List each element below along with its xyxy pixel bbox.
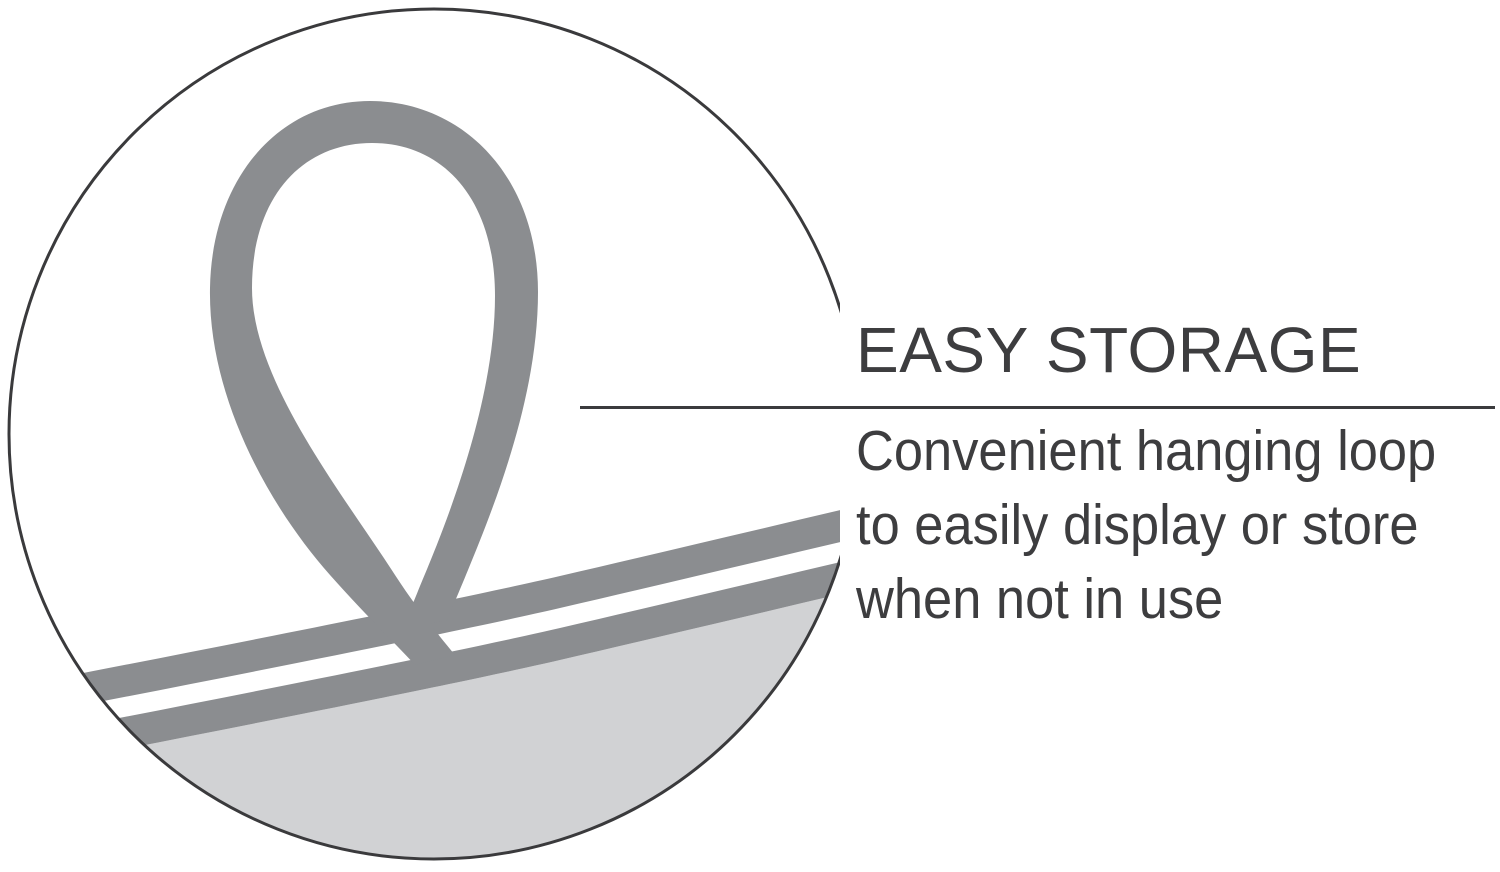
easy-storage-infographic: EASY STORAGE Convenient hanging loop to … [0, 0, 1500, 872]
callout-body: Convenient hanging loop to easily displa… [856, 382, 1445, 636]
callout-text-block: EASY STORAGE Convenient hanging loop to … [856, 318, 1496, 636]
callout-body-line-2: to easily display or store [856, 488, 1445, 562]
hanging-loop-illustration [0, 0, 840, 872]
callout-body-line-3: when not in use [856, 562, 1445, 636]
callout-heading: EASY STORAGE [856, 318, 1496, 382]
callout-body-line-1: Convenient hanging loop [856, 414, 1445, 488]
